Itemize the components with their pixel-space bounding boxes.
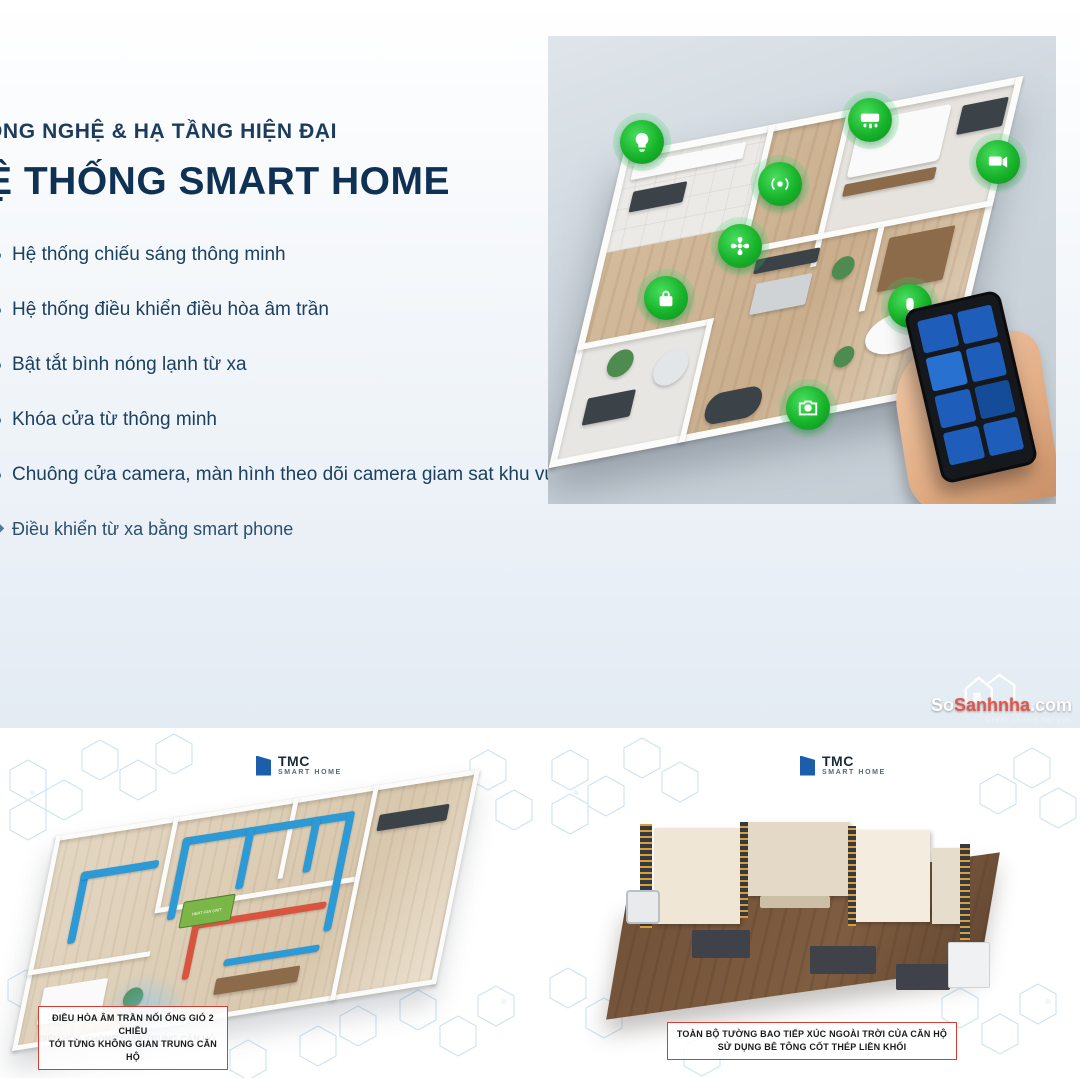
wall-panel-3 [854,830,930,922]
smart-home-slide: ÔNG NGHỆ & HẠ TẦNG HIỆN ĐẠI Ệ THỐNG SMAR… [0,0,1080,730]
panel-divider [536,730,544,1078]
tmc-mark-icon [800,756,815,776]
sofa-3 [896,964,950,990]
phone-app-grid[interactable] [917,304,1024,465]
hvac-duct-panel: TMC SMART HOME [0,730,536,1078]
list-item-label: Khóa cửa từ thông minh [12,409,217,430]
slide-footnote: ➔ Điều khiển từ xa bằng smart phone [0,519,560,540]
list-item: Khóa cửa từ thông minh [0,409,560,431]
caption-hvac-label: ĐIỀU HÒA ÂM TRẦN NỐI ỐNG GIÓ 2 CHIỀU TỚI… [49,1013,217,1062]
page-title: Ệ THỐNG SMART HOME [0,160,560,204]
smart-lock-icon [644,276,688,320]
watermark-tagline: Great choice for you [931,717,1072,724]
wall-section-diagram [596,822,1016,1012]
caption-hvac: ĐIỀU HÒA ÂM TRẦN NỐI ỐNG GIÓ 2 CHIỀU TỚI… [38,1006,228,1070]
caption-wall-structure-label: TOÀN BỘ TƯỜNG BAO TIẾP XÚC NGOÀI TRỜI CỦ… [677,1029,947,1052]
watermark-name-part1: So [931,695,954,715]
bullet-dot-icon [0,472,1,479]
list-item: Chuông cửa camera, màn hình theo dõi cam… [0,464,560,486]
smart-home-floorplan-render [548,36,1056,504]
list-item-label: Hệ thống điều khiển điều hòa âm trần [12,299,329,320]
sofa-sensor-icon [758,162,802,206]
tmc-logo-name: TMC [278,754,342,769]
list-item: Hệ thống chiếu sáng thông minh [0,244,560,266]
wall-structure-panel: TMC SMART HOME [544,730,1080,1078]
rebar-hatch-4 [960,844,970,940]
watermark-name-part3: .com [1030,695,1072,715]
list-item: Hệ thống điều khiển điều hòa âm trần [0,299,560,321]
washing-machine [626,890,660,924]
sofa-2 [810,946,876,974]
list-item-label: Bật tắt bình nóng lạnh từ xa [12,354,247,375]
playground-camera-icon [786,386,830,430]
bullet-dot-icon [0,362,1,369]
phone-app-tile[interactable] [925,351,967,391]
tmc-mark-icon [256,756,271,776]
list-item-label: Hệ thống chiếu sáng thông minh [12,244,286,265]
phone-app-tile[interactable] [974,379,1016,419]
bathroom-fixture [948,942,990,988]
step-platform [760,896,830,908]
lightbulb-icon [620,120,664,164]
phone-app-tile[interactable] [965,342,1007,382]
arrow-right-icon: ➔ [0,518,5,539]
phone-app-tile[interactable] [943,425,985,465]
tmc-logo-name: TMC [822,754,886,769]
fan-icon [718,224,762,268]
rebar-hatch-2 [740,822,748,918]
slide-collage: ÔNG NGHỆ & HẠ TẦNG HIỆN ĐẠI Ệ THỐNG SMAR… [0,0,1080,1078]
tmc-logo-sub: SMART HOME [278,769,342,777]
feature-bullet-list: Hệ thống chiếu sáng thông minh Hệ thống … [0,244,560,486]
doorbell-camera-icon [976,140,1020,184]
phone-app-tile[interactable] [934,388,976,428]
bullet-dot-icon [0,252,1,259]
phone-app-tile[interactable] [917,314,959,354]
wall-panel-1 [654,828,740,924]
caption-wall-structure: TOÀN BỘ TƯỜNG BAO TIẾP XÚC NGOÀI TRỜI CỦ… [667,1022,957,1060]
phone-app-tile[interactable] [982,416,1024,456]
rebar-hatch-3 [848,826,856,926]
tmc-logo-sub: SMART HOME [822,769,886,777]
phone-app-tile[interactable] [956,304,998,344]
wall-panel-2 [746,822,850,896]
list-item: Bật tắt bình nóng lạnh từ xa [0,354,560,376]
slide-eyebrow: ÔNG NGHỆ & HẠ TẦNG HIỆN ĐẠI [0,120,560,144]
watermark-name-part2: Sanhnha [954,695,1030,715]
air-conditioner-icon [848,98,892,142]
watermark: SoSanhnha.com Great choice for you [931,696,1072,724]
sofa-1 [692,930,750,958]
slide-footnote-label: Điều khiển từ xa bằng smart phone [12,519,293,539]
bullet-dot-icon [0,307,1,314]
slide-text-column: ÔNG NGHỆ & HẠ TẦNG HIỆN ĐẠI Ệ THỐNG SMAR… [0,120,560,540]
tmc-logo-icon: TMC SMART HOME [800,754,886,777]
tmc-logo-icon: TMC SMART HOME [256,754,342,777]
wall-panel-4 [932,848,962,924]
bullet-dot-icon [0,417,1,424]
